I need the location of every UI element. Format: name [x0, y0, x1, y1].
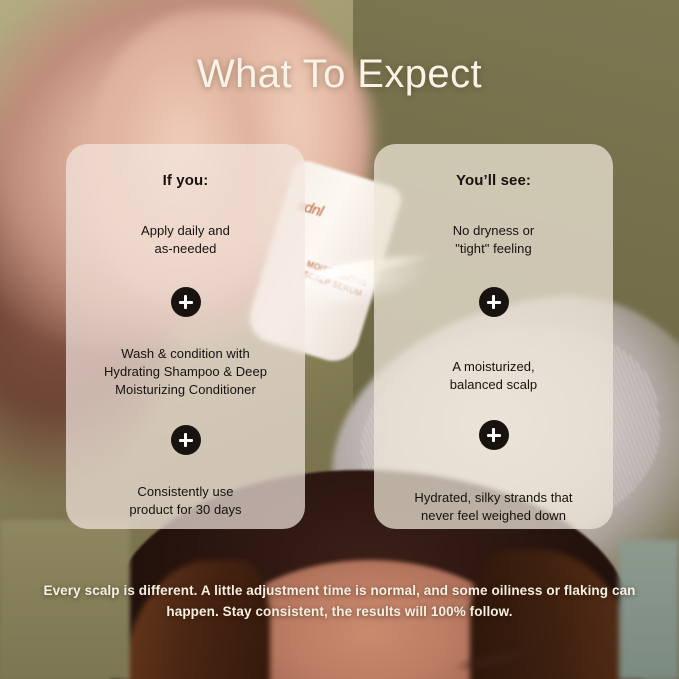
- card-youll-see: You’ll see: No dryness or"tight" feeling…: [374, 144, 613, 529]
- plus-icon: [171, 425, 201, 455]
- list-item: No dryness or"tight" feeling: [390, 222, 597, 258]
- card-youll-see-title: You’ll see:: [456, 172, 531, 189]
- card-if-you: If you: Apply daily andas-needed Wash & …: [66, 144, 305, 529]
- list-item: Apply daily andas-needed: [82, 222, 289, 258]
- list-item: Wash & condition withHydrating Shampoo &…: [82, 345, 289, 399]
- list-item: Consistently useproduct for 30 days: [82, 483, 289, 519]
- marketing-infographic: sdnl MOISTURIZING SCALP SERUM What To Ex…: [0, 0, 679, 679]
- footer-caption: Every scalp is different. A little adjus…: [36, 580, 643, 622]
- card-youll-see-items: No dryness or"tight" feeling A moisturiz…: [390, 189, 597, 529]
- card-if-you-items: Apply daily andas-needed Wash & conditio…: [82, 189, 289, 529]
- plus-icon: [479, 420, 509, 450]
- plus-icon: [171, 287, 201, 317]
- page-title: What To Expect: [0, 52, 679, 97]
- list-item: Hydrated, silky strands thatnever feel w…: [390, 489, 597, 525]
- plus-icon: [479, 287, 509, 317]
- list-item: A moisturized,balanced scalp: [390, 358, 597, 394]
- card-if-you-title: If you:: [163, 172, 209, 189]
